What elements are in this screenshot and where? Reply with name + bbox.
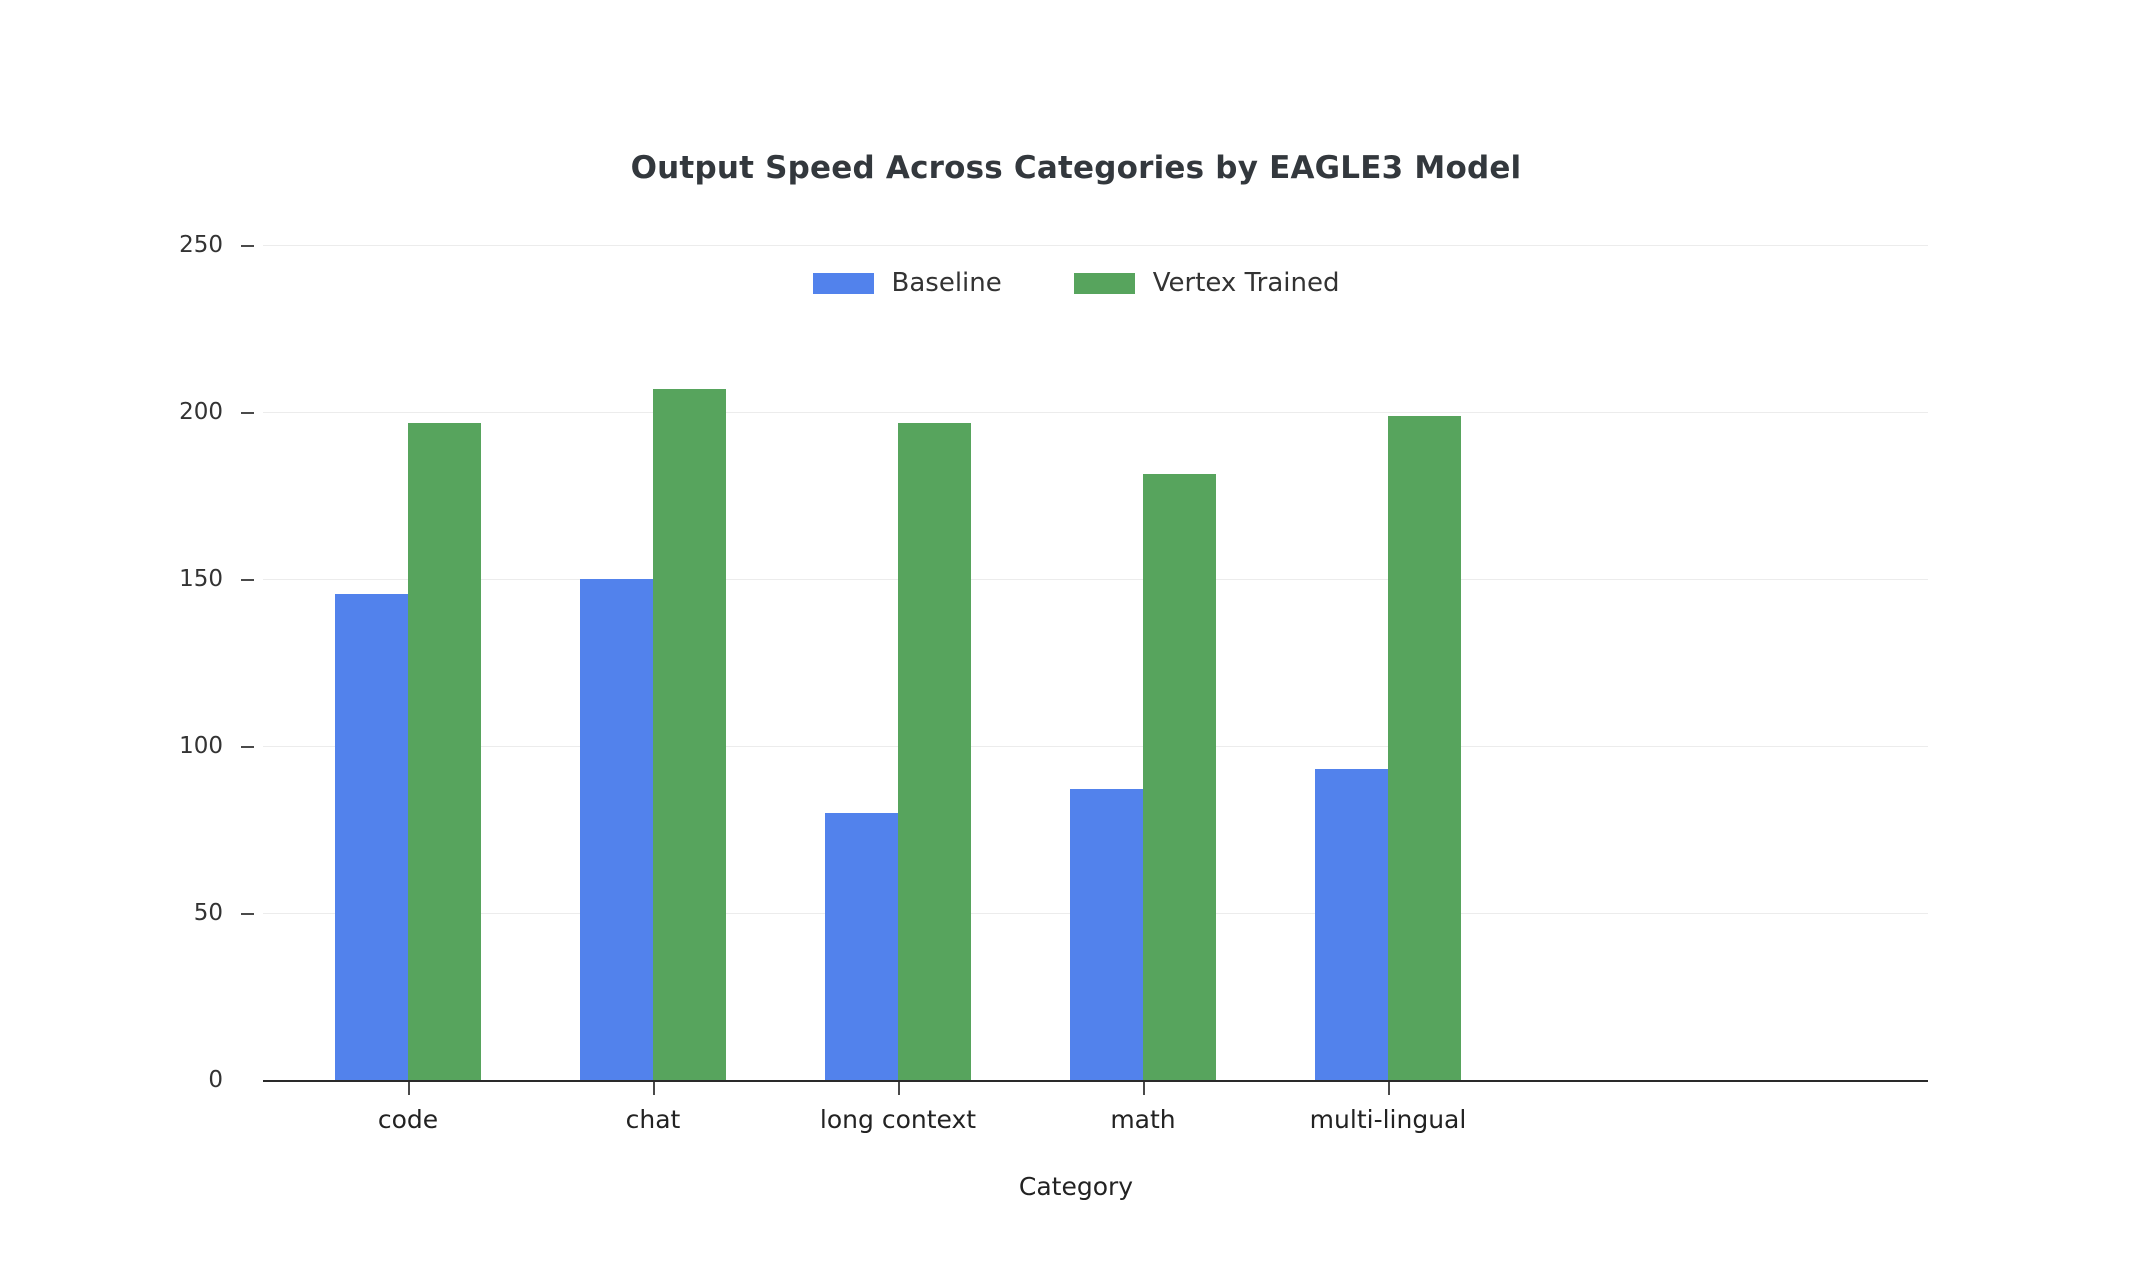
bar-vertex-trained-long-context[interactable] [898,423,971,1080]
x-tick-mark [1388,1082,1390,1095]
x-axis-line [263,1080,1928,1082]
x-tick-label-multi-lingual: multi-lingual [1228,1105,1548,1134]
x-tick-mark [408,1082,410,1095]
bar-vertex-trained-code[interactable] [408,423,481,1080]
bar-baseline-code[interactable] [335,594,408,1080]
page-title: Output Speed Across Categories by EAGLE3… [0,150,2152,186]
chart-figure: Output Speed Across Categories by EAGLE3… [0,0,2152,1272]
plot-area [263,245,1928,1080]
x-tick-mark [653,1082,655,1095]
y-tick-label: 150 [133,566,223,592]
bar-vertex-trained-math[interactable] [1143,474,1216,1080]
y-tick-mark [241,746,254,748]
bar-baseline-multi-lingual[interactable] [1315,769,1388,1080]
y-tick-mark [241,245,254,247]
y-tick-mark [241,579,254,581]
bar-baseline-long-context[interactable] [825,813,898,1080]
gridline [263,412,1928,413]
y-tick-mark [241,913,254,915]
y-tick-label: 100 [133,733,223,759]
y-tick-label: 200 [133,399,223,425]
bar-vertex-trained-multi-lingual[interactable] [1388,416,1461,1080]
gridline [263,579,1928,580]
x-axis-title: Category [0,1172,2152,1201]
y-tick-label: 0 [133,1067,223,1093]
y-tick-label: 50 [133,900,223,926]
bar-vertex-trained-chat[interactable] [653,389,726,1080]
y-tick-mark [241,412,254,414]
x-tick-mark [1143,1082,1145,1095]
y-tick-label: 250 [133,232,223,258]
gridline [263,746,1928,747]
gridline [263,245,1928,246]
bar-baseline-chat[interactable] [580,579,653,1080]
x-tick-mark [898,1082,900,1095]
bar-baseline-math[interactable] [1070,789,1143,1080]
